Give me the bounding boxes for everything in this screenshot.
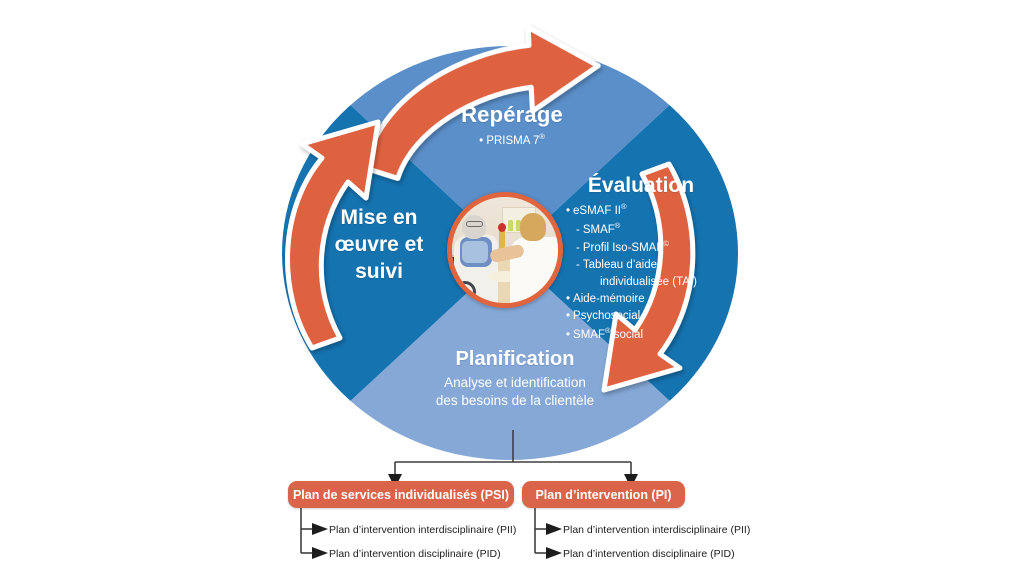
list-item: •Aide-mémoire [566, 291, 716, 308]
registered-mark: ® [539, 132, 545, 141]
list-item: •Psychosocial [566, 308, 716, 325]
bullet-glyph: • [479, 135, 483, 147]
list-item-label: eSMAF II [573, 205, 621, 217]
bullet-glyph: • [566, 310, 570, 322]
bullet-glyph: - [576, 224, 580, 236]
arrowhead-right-icon [546, 523, 562, 535]
list-item-suffix: social [611, 329, 644, 341]
registered-mark: ® [615, 221, 621, 230]
plan-box-pi[interactable]: Plan d’intervention (PI) [522, 481, 685, 508]
quadrant-bottom-sub-line2: des besoins de la clientèle [400, 392, 630, 410]
list-item-label: Aide-mémoire [573, 293, 645, 305]
quadrant-top-title: Repérage [332, 102, 692, 128]
photo-elder-pattern [462, 241, 488, 263]
list-item: -Profil Iso-SMAF© [566, 238, 716, 257]
bullet-glyph: - [576, 242, 580, 254]
photo-caregiver-head [520, 213, 546, 241]
list-item-label: Profil Iso-SMAF [583, 242, 664, 254]
quadrant-right-title: Évaluation [566, 174, 716, 198]
arrowhead-right-icon [546, 547, 562, 559]
sub-label-pii: Plan d’intervention interdisciplinaire (… [563, 524, 750, 536]
evaluation-item-list: •eSMAF II® -SMAF® -Profil Iso-SMAF© -Tab… [566, 201, 716, 343]
sub-label-pid: Plan d’intervention disciplinaire (PID) [329, 548, 501, 560]
quadrant-left-title-line1: Mise en [304, 205, 454, 232]
list-item-label: Tableau d’aide [583, 259, 657, 271]
quadrant-bottom-title: Planification [400, 348, 630, 371]
quadrant-top-item-text: PRISMA 7 [486, 135, 539, 147]
quadrant-bottom-sub-line1: Analyse et identification [400, 374, 630, 392]
photo-flower [498, 223, 506, 232]
list-item-label: SMAF [573, 329, 605, 341]
list-item: -SMAF® [566, 220, 716, 239]
arrowhead-right-icon [312, 523, 328, 535]
quadrant-left-title-line2: œuvre et [304, 232, 454, 259]
registered-mark: ® [621, 202, 627, 211]
quadrant-top-item: • PRISMA 7® [332, 132, 692, 147]
plan-box-psi-label: Plan de services individualisés (PSI) [293, 488, 509, 502]
sub-label-pid: Plan d’intervention disciplinaire (PID) [563, 548, 735, 560]
plan-box-psi[interactable]: Plan de services individualisés (PSI) [288, 481, 514, 508]
sub-branch-pi: Plan d’intervention interdisciplinaire (… [532, 508, 862, 570]
photo-eyeglasses [466, 221, 483, 227]
list-item-label: individualisée (TAI) [600, 276, 697, 288]
list-item: •SMAF® social [566, 325, 716, 344]
quadrant-mise-en-oeuvre: Mise en œuvre et suivi [304, 205, 454, 286]
list-item: •eSMAF II® [566, 201, 716, 220]
bullet-glyph: - [576, 259, 580, 271]
copyright-mark: © [663, 239, 669, 248]
quadrant-left-title-line3: suivi [304, 259, 454, 286]
quadrant-évaluation: Évaluation •eSMAF II® -SMAF® -Profil Iso… [566, 174, 716, 343]
list-item: -Tableau d’aide [566, 257, 716, 274]
list-item-label: Psychosocial [573, 310, 640, 322]
sub-label-pii: Plan d’intervention interdisciplinaire (… [329, 524, 516, 536]
list-item-continuation: individualisée (TAI) [566, 274, 716, 291]
plan-box-pi-label: Plan d’intervention (PI) [535, 488, 671, 502]
bullet-glyph: • [566, 329, 570, 341]
center-photo [447, 192, 563, 308]
bullet-glyph: • [566, 205, 570, 217]
photo-wheelchair-wheel [454, 281, 476, 303]
photo-elder-head [462, 215, 486, 239]
list-item-label: SMAF [583, 224, 615, 236]
quadrant-repérage: Repérage • PRISMA 7® [332, 102, 692, 147]
arrowhead-right-icon [312, 547, 328, 559]
diagram-canvas: Repérage • PRISMA 7® Mise en œuvre et su… [0, 0, 1024, 576]
quadrant-planification: Planification Analyse et identification … [400, 348, 630, 410]
bullet-glyph: • [566, 293, 570, 305]
sub-branch-pi-lines [532, 508, 862, 570]
